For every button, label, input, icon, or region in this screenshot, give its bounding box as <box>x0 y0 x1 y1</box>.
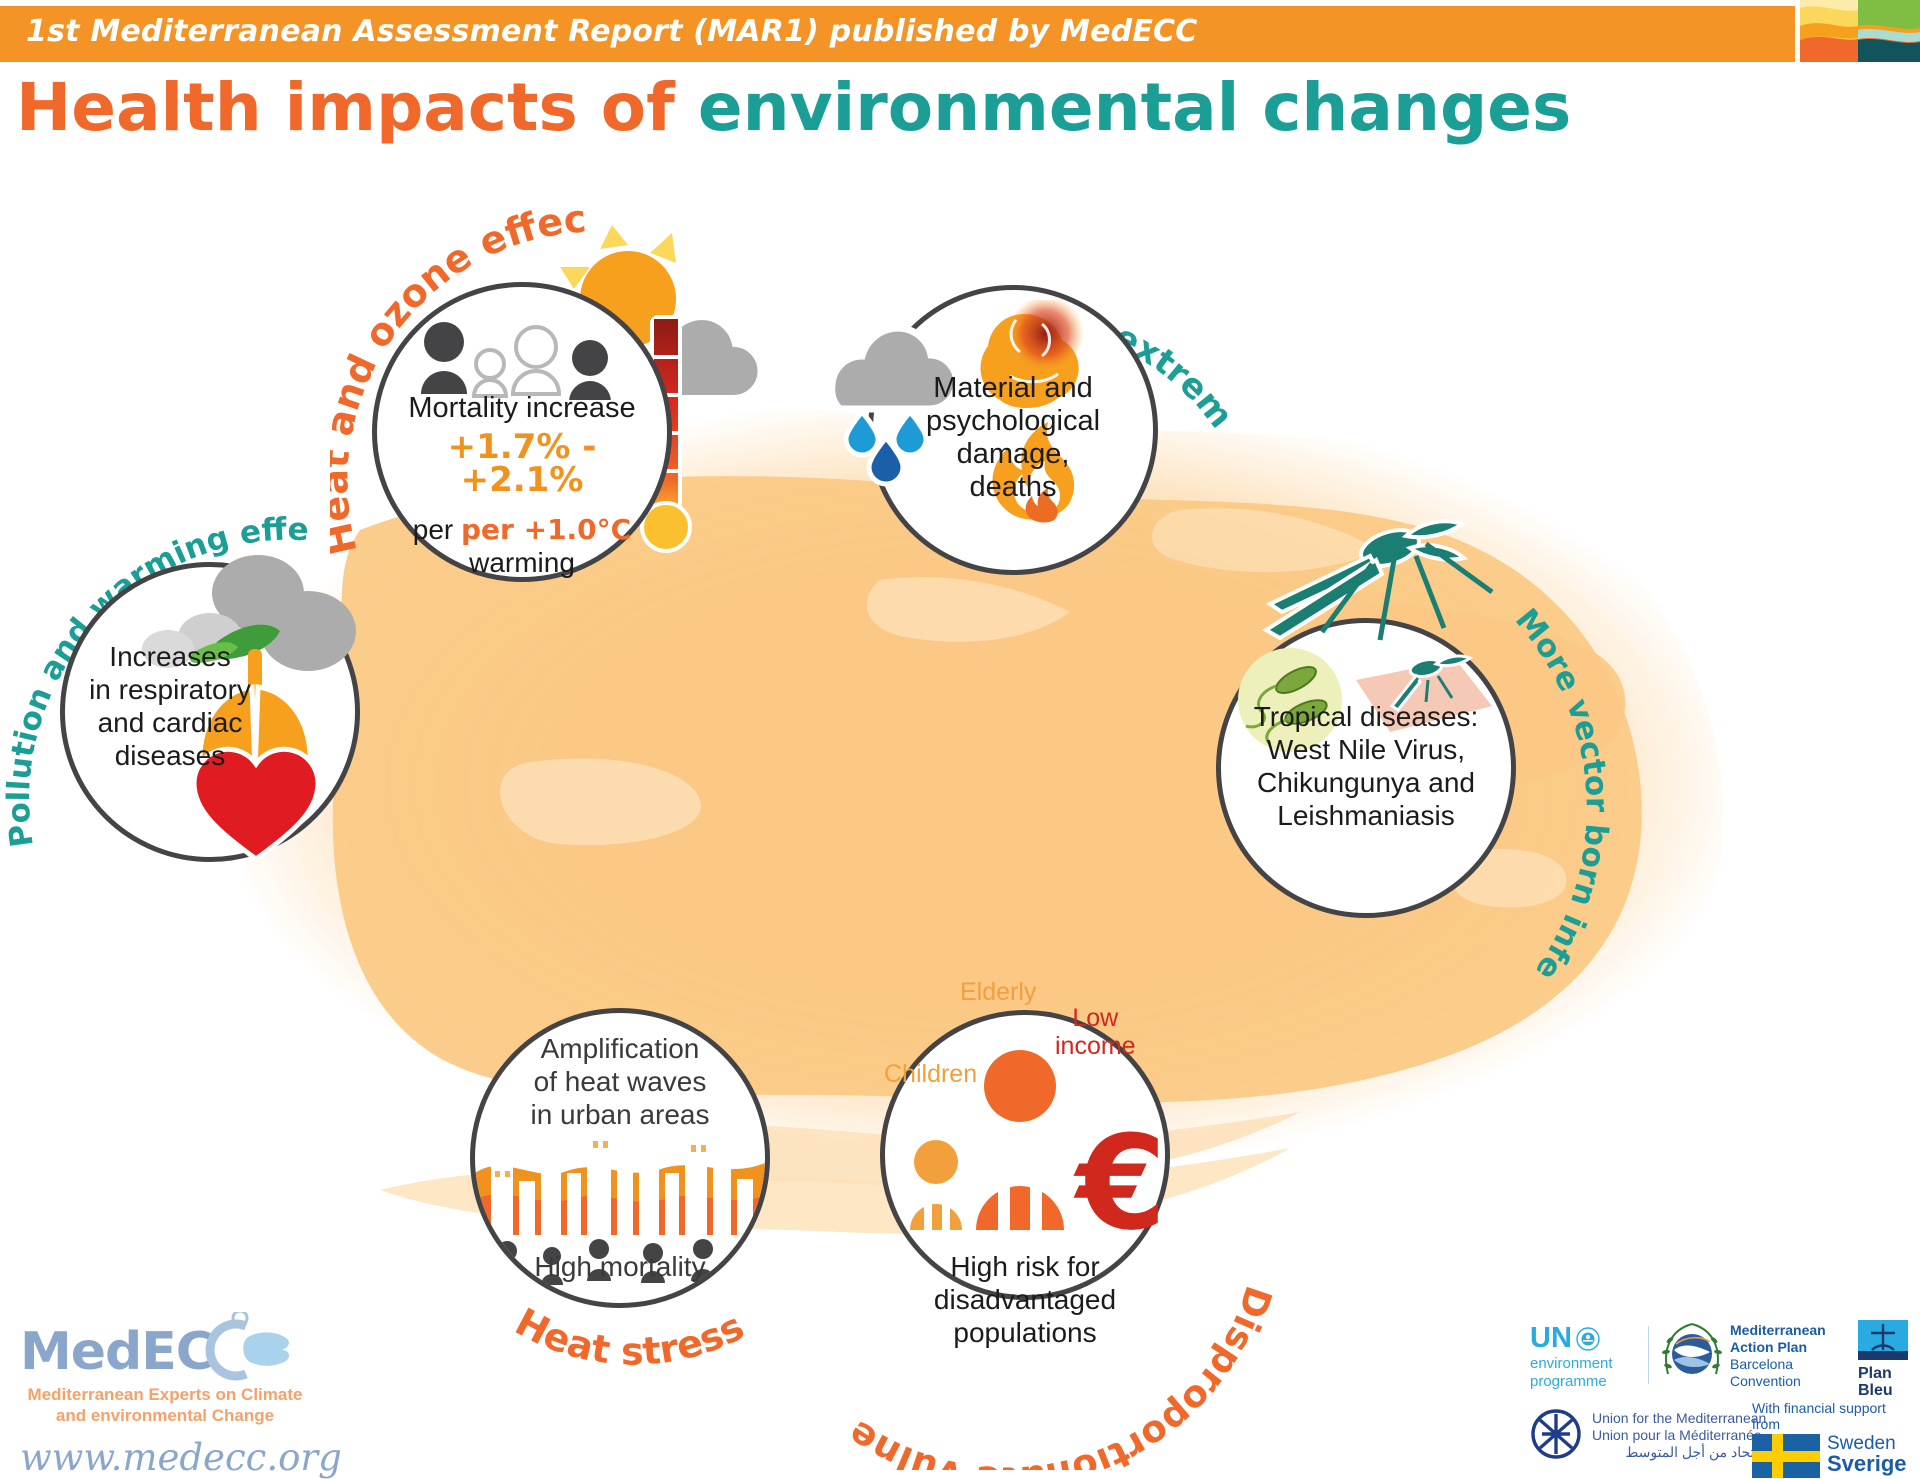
extreme-line-3: deaths <box>878 471 1148 504</box>
un-logo-line3: programme <box>1530 1373 1640 1391</box>
mortality-increase-label: Mortality increase <box>382 392 662 425</box>
pollution-line-4: diseases <box>70 739 270 772</box>
un-logo-line2: environment <box>1530 1355 1640 1373</box>
vuln-line-2: disadvantaged <box>880 1283 1170 1316</box>
ufm-text: Union for the Mediterranean Union pour l… <box>1592 1410 1766 1461</box>
vector-line-1: Tropical diseases: <box>1226 700 1506 733</box>
child-icon <box>910 1140 962 1230</box>
pollution-line-2: in respiratory <box>70 673 270 706</box>
sverige-label: Sverige <box>1827 1454 1907 1474</box>
medecc-c-mark-icon <box>188 1312 298 1384</box>
medecc-wave-logo-icon <box>1800 0 1920 62</box>
mosquito-icon <box>1266 521 1492 640</box>
per-word: per <box>413 514 461 545</box>
un-environment-logo: UN environment programme <box>1530 1322 1640 1391</box>
tag-elderly: Elderly <box>960 978 1036 1007</box>
medecc-wordmark: MedEC <box>20 1322 213 1382</box>
logo-divider <box>1648 1326 1649 1384</box>
medecc-website-url[interactable]: www.medecc.org <box>20 1436 320 1479</box>
ufm-line-1: Union for the Mediterranean <box>1592 1410 1766 1427</box>
pollution-line-3: and cardiac <box>70 706 270 739</box>
mediterranean-action-plan-text: Mediterranean Action Plan Barcelona Conv… <box>1730 1322 1826 1390</box>
medecc-logo-block: MedEC Mediterranean Experts on Climate a… <box>20 1322 320 1479</box>
heat-stress-line-3: in urban areas <box>475 1098 765 1131</box>
extreme-line-2: psychological damage, <box>878 405 1148 471</box>
vuln-line-3: populations <box>880 1316 1170 1349</box>
ufm-line-2: Union pour la Méditerranée <box>1592 1427 1766 1444</box>
plan-bleu-logo: Plan Bleu <box>1858 1320 1914 1399</box>
bubble-extreme-events-text: Material and psychological damage, death… <box>878 372 1148 504</box>
map-line-2: Action Plan <box>1730 1339 1826 1356</box>
vector-line-2: West Nile Virus, <box>1226 733 1506 766</box>
bubble-heat-stress-text: Amplification of heat waves in urban are… <box>475 1032 765 1131</box>
barcelona-convention-emblem-icon <box>1658 1320 1726 1386</box>
person-icon <box>976 1050 1064 1230</box>
euro-icon: € <box>1073 1107 1166 1259</box>
un-emblem-icon <box>1576 1327 1600 1351</box>
map-line-4: Convention <box>1730 1373 1826 1390</box>
warming-label: warming <box>382 546 662 579</box>
heat-stress-line-2: of heat waves <box>475 1065 765 1098</box>
plan-bleu-mark-icon <box>1858 1320 1908 1360</box>
medecc-subtitle-2: and environmental Change <box>20 1405 310 1426</box>
vector-line-3: Chikungunya and <box>1226 766 1506 799</box>
per-degree-label: per per +1.0°C <box>382 513 662 546</box>
tag-low-income-line1: Low <box>1072 1004 1118 1032</box>
map-line-1: Mediterranean <box>1730 1322 1826 1339</box>
ufm-line-3: الاتحاد من أجل المتوسط <box>1592 1444 1766 1461</box>
page-title: Health impacts of environmental changes <box>16 66 1896 150</box>
medecc-subtitle-1: Mediterranean Experts on Climate <box>20 1384 310 1405</box>
svg-text:€: € <box>1073 1107 1166 1259</box>
heat-stress-line-1: Amplification <box>475 1032 765 1065</box>
financial-support-label: With financial support from <box>1752 1400 1910 1432</box>
plan-bleu-line-1: Plan <box>1858 1365 1914 1382</box>
vector-line-4: Leishmaniasis <box>1226 799 1506 832</box>
map-line-3: Barcelona <box>1730 1356 1826 1373</box>
bubble-pollution-text: Increases in respiratory and cardiac dis… <box>70 640 270 772</box>
swedish-flag-icon <box>1752 1434 1820 1478</box>
bubble-heat-ozone-text: Mortality increase +1.7% - +2.1% per per… <box>382 392 662 579</box>
tag-children: Children <box>884 1060 977 1089</box>
bubble-vector-diseases-text: Tropical diseases: West Nile Virus, Chik… <box>1226 700 1506 832</box>
extreme-line-1: Material and <box>878 372 1148 405</box>
infographic-canvas: 1st Mediterranean Assessment Report (MAR… <box>0 0 1920 1478</box>
heat-stress-caption: High mortality <box>475 1250 765 1283</box>
per-degree-value: per +1.0°C <box>461 513 631 546</box>
partner-logos-block: UN environment programme <box>1530 1318 1910 1468</box>
un-logo-text: UN <box>1530 1322 1572 1355</box>
plan-bleu-line-2: Bleu <box>1858 1382 1914 1399</box>
bubble-vulnerability-text: High risk for disadvantaged populations <box>880 1250 1170 1349</box>
union-for-mediterranean-emblem-icon <box>1530 1408 1582 1460</box>
title-part-2: environmental changes <box>698 69 1571 146</box>
pollution-line-1: Increases <box>70 640 270 673</box>
title-part-1: Health impacts of <box>16 69 698 146</box>
tag-low-income: Low income <box>1055 1004 1136 1060</box>
tag-low-income-line2: income <box>1055 1032 1136 1060</box>
header-banner: 1st Mediterranean Assessment Report (MAR… <box>0 6 1795 62</box>
people-icon-group-heat <box>420 320 640 400</box>
header-banner-text: 1st Mediterranean Assessment Report (MAR… <box>26 14 1197 49</box>
mortality-increase-value: +1.7% - +2.1% <box>382 431 662 497</box>
vuln-line-1: High risk for <box>880 1250 1170 1283</box>
sweden-support-logo: With financial support from Sweden Sveri… <box>1752 1400 1910 1478</box>
